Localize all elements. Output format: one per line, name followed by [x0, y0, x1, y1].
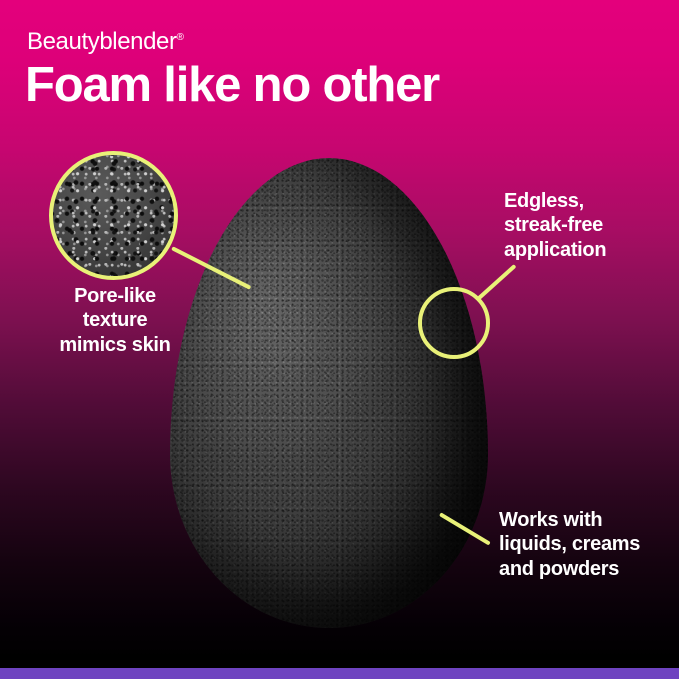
brand-logo: Beautyblender®: [27, 28, 184, 56]
magnifier-circle-texture: [49, 151, 178, 280]
callout-pore-like-texture: Pore-like texture mimics skin: [50, 284, 180, 357]
callout-line: Edgless,: [504, 189, 606, 213]
callout-line: streak-free: [504, 213, 606, 237]
magnifier-circle-edgeless: [418, 287, 490, 359]
callout-line: texture: [50, 308, 180, 332]
registered-trademark-icon: ®: [177, 32, 184, 43]
callout-line: mimics skin: [50, 333, 180, 357]
callout-line: application: [504, 238, 606, 262]
callout-line: and powders: [499, 557, 640, 581]
sponge-foam-texture-fine: [170, 158, 488, 628]
callout-line: liquids, creams: [499, 532, 640, 556]
product-infographic: Beautyblender® Foam like no other Pore-l…: [0, 0, 679, 679]
callout-line: Pore-like: [50, 284, 180, 308]
callout-edgeless-application: Edgless, streak-free application: [504, 189, 606, 262]
bottom-accent-bar: [0, 668, 679, 679]
page-title: Foam like no other: [25, 61, 439, 110]
callout-line: Works with: [499, 508, 640, 532]
callout-works-with: Works with liquids, creams and powders: [499, 508, 640, 581]
magnified-pore-texture: [49, 151, 178, 280]
brand-name: Beautyblender: [27, 28, 177, 55]
product-sponge-image: [170, 158, 488, 628]
